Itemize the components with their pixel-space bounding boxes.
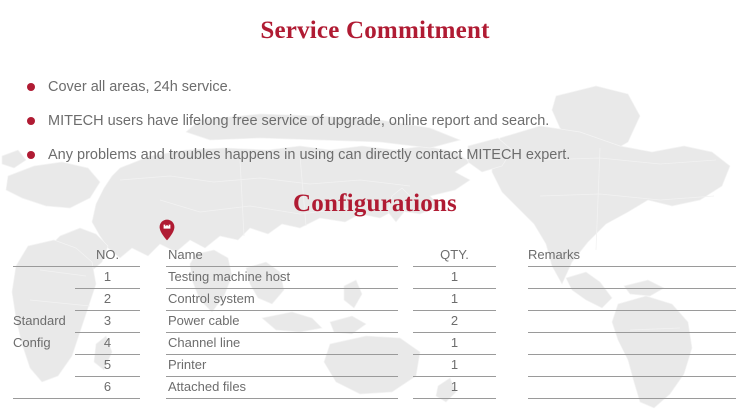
list-item: MITECH users have lifelong free service … (26, 104, 726, 138)
table-rule (75, 376, 140, 377)
cell-name: Channel line (168, 332, 398, 354)
cell-no: 6 (75, 376, 140, 398)
table-rule (528, 398, 736, 399)
table-rule (413, 376, 496, 377)
column-header-qty: QTY. (413, 244, 496, 266)
configurations-table: NO. Name QTY. Remarks Standard Config 1 … (0, 238, 750, 408)
slide-canvas: Service Commitment Cover all areas, 24h … (0, 0, 750, 416)
table-rule (528, 376, 736, 377)
column-header-remarks: Remarks (528, 244, 736, 266)
table-rule (528, 354, 736, 355)
table-rule (413, 398, 496, 399)
list-item-label: Cover all areas, 24h service. (48, 79, 232, 95)
configurations-title: Configurations (0, 189, 750, 219)
cell-remarks (528, 310, 736, 332)
cell-no: 1 (75, 266, 140, 288)
cell-qty: 1 (413, 354, 496, 376)
table-rule (166, 310, 398, 311)
table-rule (528, 310, 736, 311)
cell-remarks (528, 354, 736, 376)
cell-remarks (528, 266, 736, 288)
table-rule (413, 332, 496, 333)
cell-no: 4 (75, 332, 140, 354)
table-rule (166, 398, 398, 399)
table-rule (528, 266, 736, 267)
cell-no: 2 (75, 288, 140, 310)
table-rule (166, 376, 398, 377)
cell-no: 5 (75, 354, 140, 376)
column-header-no: NO. (75, 244, 140, 266)
cell-remarks (528, 288, 736, 310)
table-rule (75, 310, 140, 311)
table-rule (13, 398, 140, 399)
table-rule (413, 310, 496, 311)
table-rule (75, 332, 140, 333)
table-rule (413, 354, 496, 355)
cell-name: Testing machine host (168, 266, 398, 288)
service-commitment-list: Cover all areas, 24h service. MITECH use… (26, 70, 726, 172)
list-item: Any problems and troubles happens in usi… (26, 138, 726, 172)
service-commitment-title: Service Commitment (0, 16, 750, 46)
table-rule (413, 288, 496, 289)
cell-remarks (528, 376, 736, 398)
table-rule (528, 332, 736, 333)
cell-qty: 1 (413, 376, 496, 398)
bullet-dot-icon (27, 151, 35, 159)
list-item: Cover all areas, 24h service. (26, 70, 726, 104)
cell-qty: 1 (413, 288, 496, 310)
cell-remarks (528, 332, 736, 354)
table-rule (13, 266, 140, 267)
table-rule (528, 288, 736, 289)
cell-no: 3 (75, 310, 140, 332)
bullet-dot-icon (27, 117, 35, 125)
cell-name: Printer (168, 354, 398, 376)
cell-qty: 1 (413, 266, 496, 288)
list-item-label: Any problems and troubles happens in usi… (48, 147, 570, 163)
bullet-dot-icon (27, 83, 35, 91)
table-rule (75, 354, 140, 355)
table-rule (166, 354, 398, 355)
row-group-label-line1: Standard (13, 310, 75, 332)
cell-qty: 2 (413, 310, 496, 332)
column-header-name: Name (168, 244, 398, 266)
table-rule (413, 266, 496, 267)
cell-qty: 1 (413, 332, 496, 354)
cell-name: Power cable (168, 310, 398, 332)
table-rule (166, 288, 398, 289)
row-group-label-line2: Config (13, 332, 75, 354)
table-rule (166, 332, 398, 333)
cell-name: Control system (168, 288, 398, 310)
cell-name: Attached files (168, 376, 398, 398)
table-rule (166, 266, 398, 267)
list-item-label: MITECH users have lifelong free service … (48, 113, 549, 129)
table-rule (75, 288, 140, 289)
